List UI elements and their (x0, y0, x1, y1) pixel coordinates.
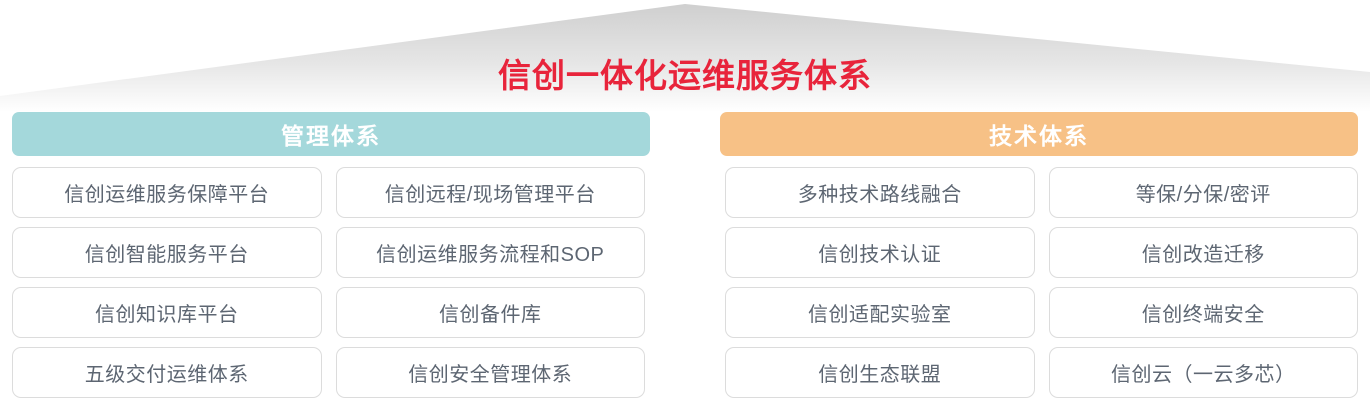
management-card-grid: 信创运维服务保障平台 信创智能服务平台 信创知识库平台 五级交付运维体系 信创远… (0, 156, 657, 398)
card-item[interactable]: 多种技术路线融合 (725, 167, 1035, 218)
card-item[interactable]: 信创改造迁移 (1049, 227, 1359, 278)
card-item[interactable]: 信创安全管理体系 (336, 347, 646, 398)
card-item[interactable]: 信创适配实验室 (725, 287, 1035, 338)
card-item[interactable]: 信创云（一云多芯） (1049, 347, 1359, 398)
page-title: 信创一体化运维服务体系 (0, 56, 1370, 96)
technology-column-1: 多种技术路线融合 信创技术认证 信创适配实验室 信创生态联盟 (725, 167, 1035, 398)
card-item[interactable]: 信创知识库平台 (12, 287, 322, 338)
card-item[interactable]: 信创远程/现场管理平台 (336, 167, 646, 218)
management-system-header: 管理体系 (12, 112, 650, 156)
card-item[interactable]: 五级交付运维体系 (12, 347, 322, 398)
management-system-block: 管理体系 信创运维服务保障平台 信创智能服务平台 信创知识库平台 五级交付运维体… (0, 112, 657, 398)
technology-card-grid: 多种技术路线融合 信创技术认证 信创适配实验室 信创生态联盟 等保/分保/密评 … (713, 156, 1370, 398)
card-item[interactable]: 信创备件库 (336, 287, 646, 338)
card-item[interactable]: 信创智能服务平台 (12, 227, 322, 278)
card-item[interactable]: 信创终端安全 (1049, 287, 1359, 338)
card-item[interactable]: 信创生态联盟 (725, 347, 1035, 398)
card-item[interactable]: 信创运维服务保障平台 (12, 167, 322, 218)
technology-system-header: 技术体系 (720, 112, 1358, 156)
systems-container: 管理体系 信创运维服务保障平台 信创智能服务平台 信创知识库平台 五级交付运维体… (0, 112, 1370, 418)
technology-system-block: 技术体系 多种技术路线融合 信创技术认证 信创适配实验室 信创生态联盟 等保/分… (713, 112, 1370, 398)
infographic-root: 信创一体化运维服务体系 管理体系 信创运维服务保障平台 信创智能服务平台 信创知… (0, 0, 1370, 418)
technology-column-2: 等保/分保/密评 信创改造迁移 信创终端安全 信创云（一云多芯） (1049, 167, 1359, 398)
card-item[interactable]: 信创技术认证 (725, 227, 1035, 278)
management-column-2: 信创远程/现场管理平台 信创运维服务流程和SOP 信创备件库 信创安全管理体系 (336, 167, 646, 398)
card-item[interactable]: 信创运维服务流程和SOP (336, 227, 646, 278)
management-column-1: 信创运维服务保障平台 信创智能服务平台 信创知识库平台 五级交付运维体系 (12, 167, 322, 398)
card-item[interactable]: 等保/分保/密评 (1049, 167, 1359, 218)
